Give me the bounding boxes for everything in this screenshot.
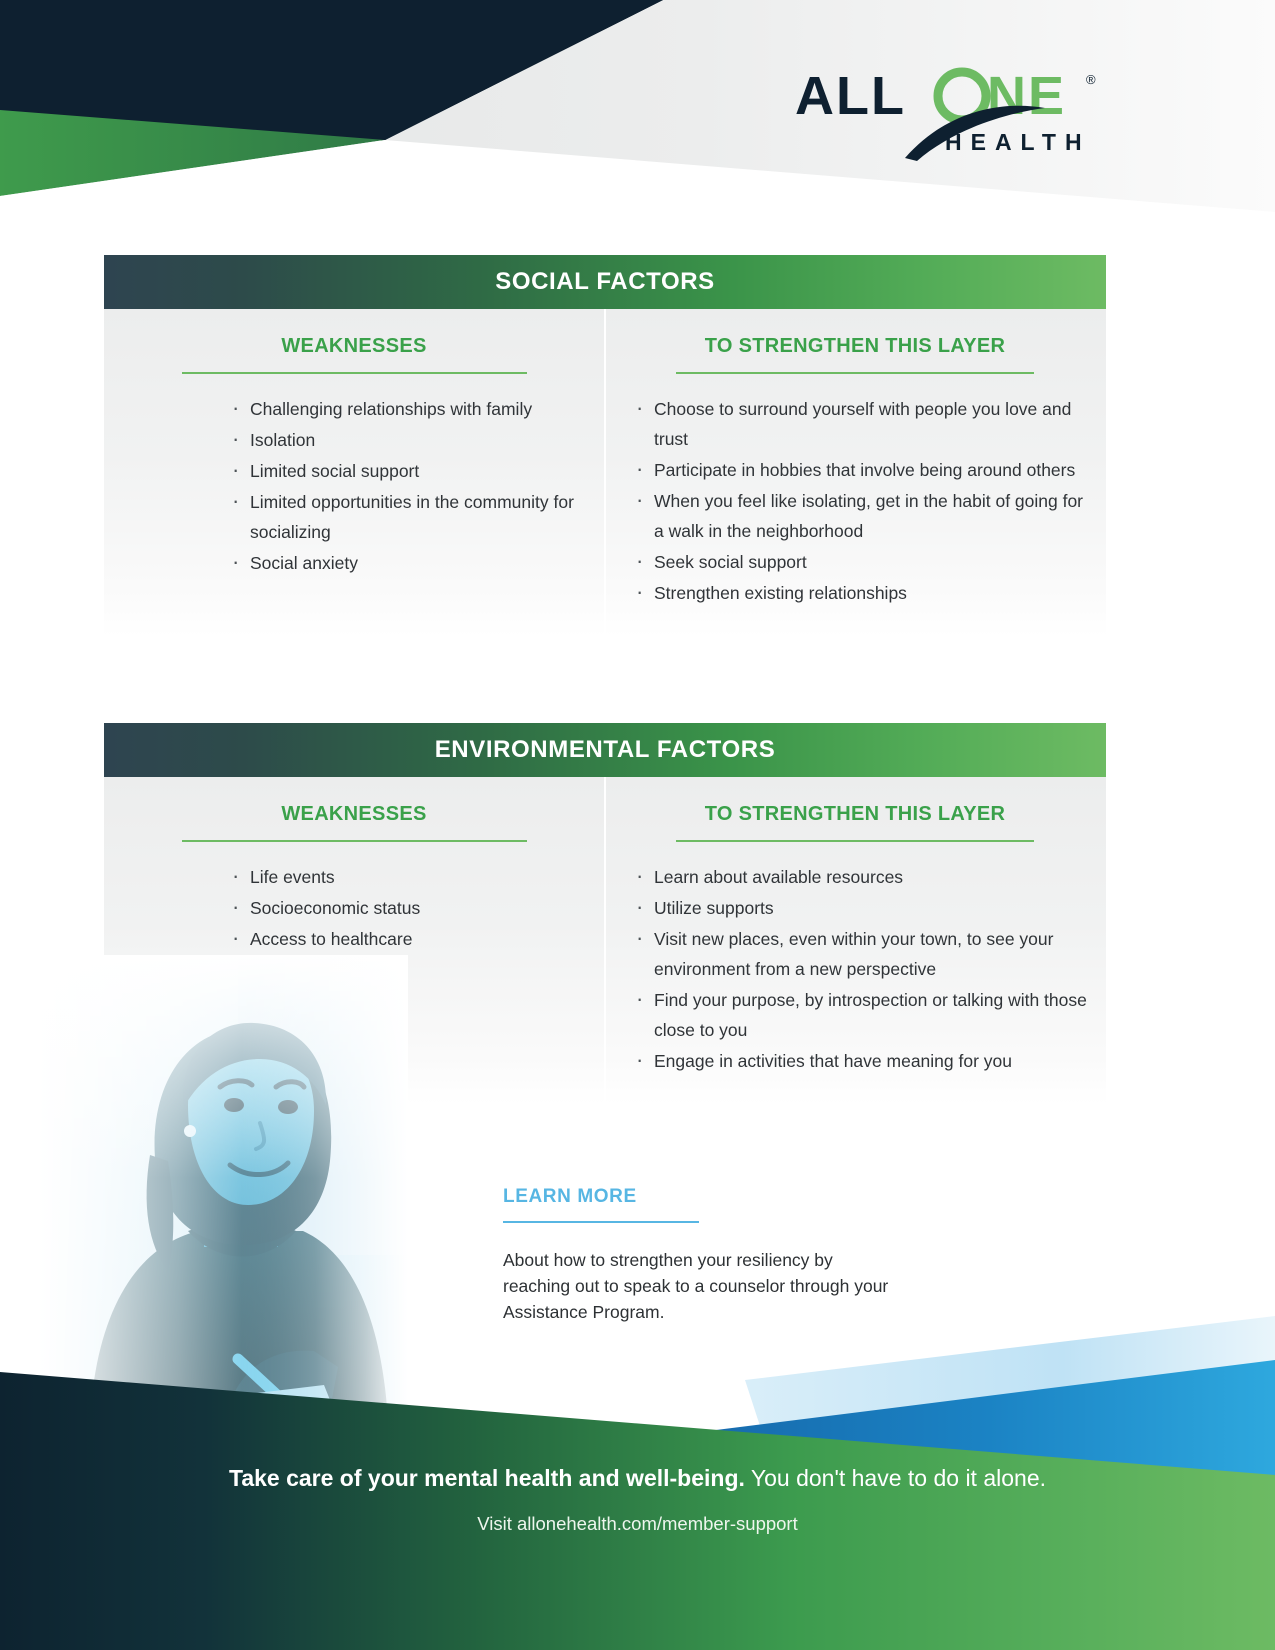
heading-underline — [676, 372, 1034, 374]
navy-triangle-lower-shape — [0, 0, 663, 140]
list-item: Socioeconomic status — [230, 893, 584, 923]
list-item: Seek social support — [634, 547, 1088, 577]
heading-underline — [182, 372, 527, 374]
list-item: Find your purpose, by introspection or t… — [634, 985, 1088, 1045]
section-header-environmental: ENVIRONMENTAL FACTORS — [104, 723, 1106, 777]
bottom-decoration — [0, 1260, 1275, 1650]
weaknesses-list-social: Challenging relationships with familyIso… — [104, 394, 604, 578]
list-item: Utilize supports — [634, 893, 1088, 923]
footer-headline: Take care of your mental health and well… — [0, 1462, 1275, 1494]
list-item: Visit new places, even within your town,… — [634, 924, 1088, 984]
list-item: Participate in hobbies that involve bein… — [634, 455, 1088, 485]
strengthen-column-environmental: TO STRENGTHEN THIS LAYER Learn about ava… — [604, 777, 1106, 1105]
list-item: Challenging relationships with family — [230, 394, 584, 424]
section-title: ENVIRONMENTAL FACTORS — [435, 736, 776, 764]
strengthen-list-environmental: Learn about available resourcesUtilize s… — [604, 862, 1106, 1076]
section-body-social: WEAKNESSES Challenging relationships wit… — [104, 309, 1106, 637]
list-item: Learn about available resources — [634, 862, 1088, 892]
list-item: Social anxiety — [230, 548, 584, 578]
list-item: Choose to surround yourself with people … — [634, 394, 1088, 454]
strengthen-column-social: TO STRENGTHEN THIS LAYER Choose to surro… — [604, 309, 1106, 637]
list-item: Strengthen existing relationships — [634, 578, 1088, 608]
weaknesses-column-social: WEAKNESSES Challenging relationships wit… — [104, 309, 604, 637]
footer-url[interactable]: Visit allonehealth.com/member-support — [0, 1513, 1275, 1535]
list-item: Engage in activities that have meaning f… — [634, 1046, 1088, 1076]
navy-triangle-shape — [0, 0, 663, 140]
section-header-social: SOCIAL FACTORS — [104, 255, 1106, 309]
list-item: Life events — [230, 862, 584, 892]
footer-text-block: Take care of your mental health and well… — [0, 1462, 1275, 1535]
section-social-factors: SOCIAL FACTORS WEAKNESSES Challenging re… — [104, 255, 1106, 637]
strengthen-list-social: Choose to surround yourself with people … — [604, 394, 1106, 608]
learn-more-title: LEARN MORE — [503, 1186, 903, 1208]
column-heading: WEAKNESSES — [104, 335, 604, 358]
footer-headline-light: You don't have to do it alone. — [751, 1465, 1046, 1491]
list-item: Limited opportunities in the community f… — [230, 487, 584, 547]
list-item: Isolation — [230, 425, 584, 455]
flyer-page: ALL NE ® HEALTH SOCIAL FACTORS WEAKNESSE… — [0, 0, 1275, 1650]
navy-big-triangle — [0, 0, 660, 140]
allone-health-logo: ALL NE ® HEALTH — [795, 62, 1125, 162]
logo-health-text: HEALTH — [945, 129, 1091, 155]
list-item: When you feel like isolating, get in the… — [634, 486, 1088, 546]
column-heading: TO STRENGTHEN THIS LAYER — [604, 335, 1106, 358]
footer-headline-bold: Take care of your mental health and well… — [229, 1465, 745, 1491]
list-item: Access to healthcare — [230, 924, 584, 954]
list-item: Limited social support — [230, 456, 584, 486]
heading-underline — [182, 840, 527, 842]
logo-all-text: ALL — [795, 66, 906, 126]
green-triangle-shape — [0, 110, 385, 196]
logo-registered-mark: ® — [1086, 72, 1096, 87]
column-heading: TO STRENGTHEN THIS LAYER — [604, 803, 1106, 826]
section-title: SOCIAL FACTORS — [495, 268, 715, 296]
heading-underline — [676, 840, 1034, 842]
weaknesses-list-environmental: Life eventsSocioeconomic statusAccess to… — [104, 862, 604, 954]
learn-more-underline — [503, 1221, 699, 1223]
column-heading: WEAKNESSES — [104, 803, 604, 826]
